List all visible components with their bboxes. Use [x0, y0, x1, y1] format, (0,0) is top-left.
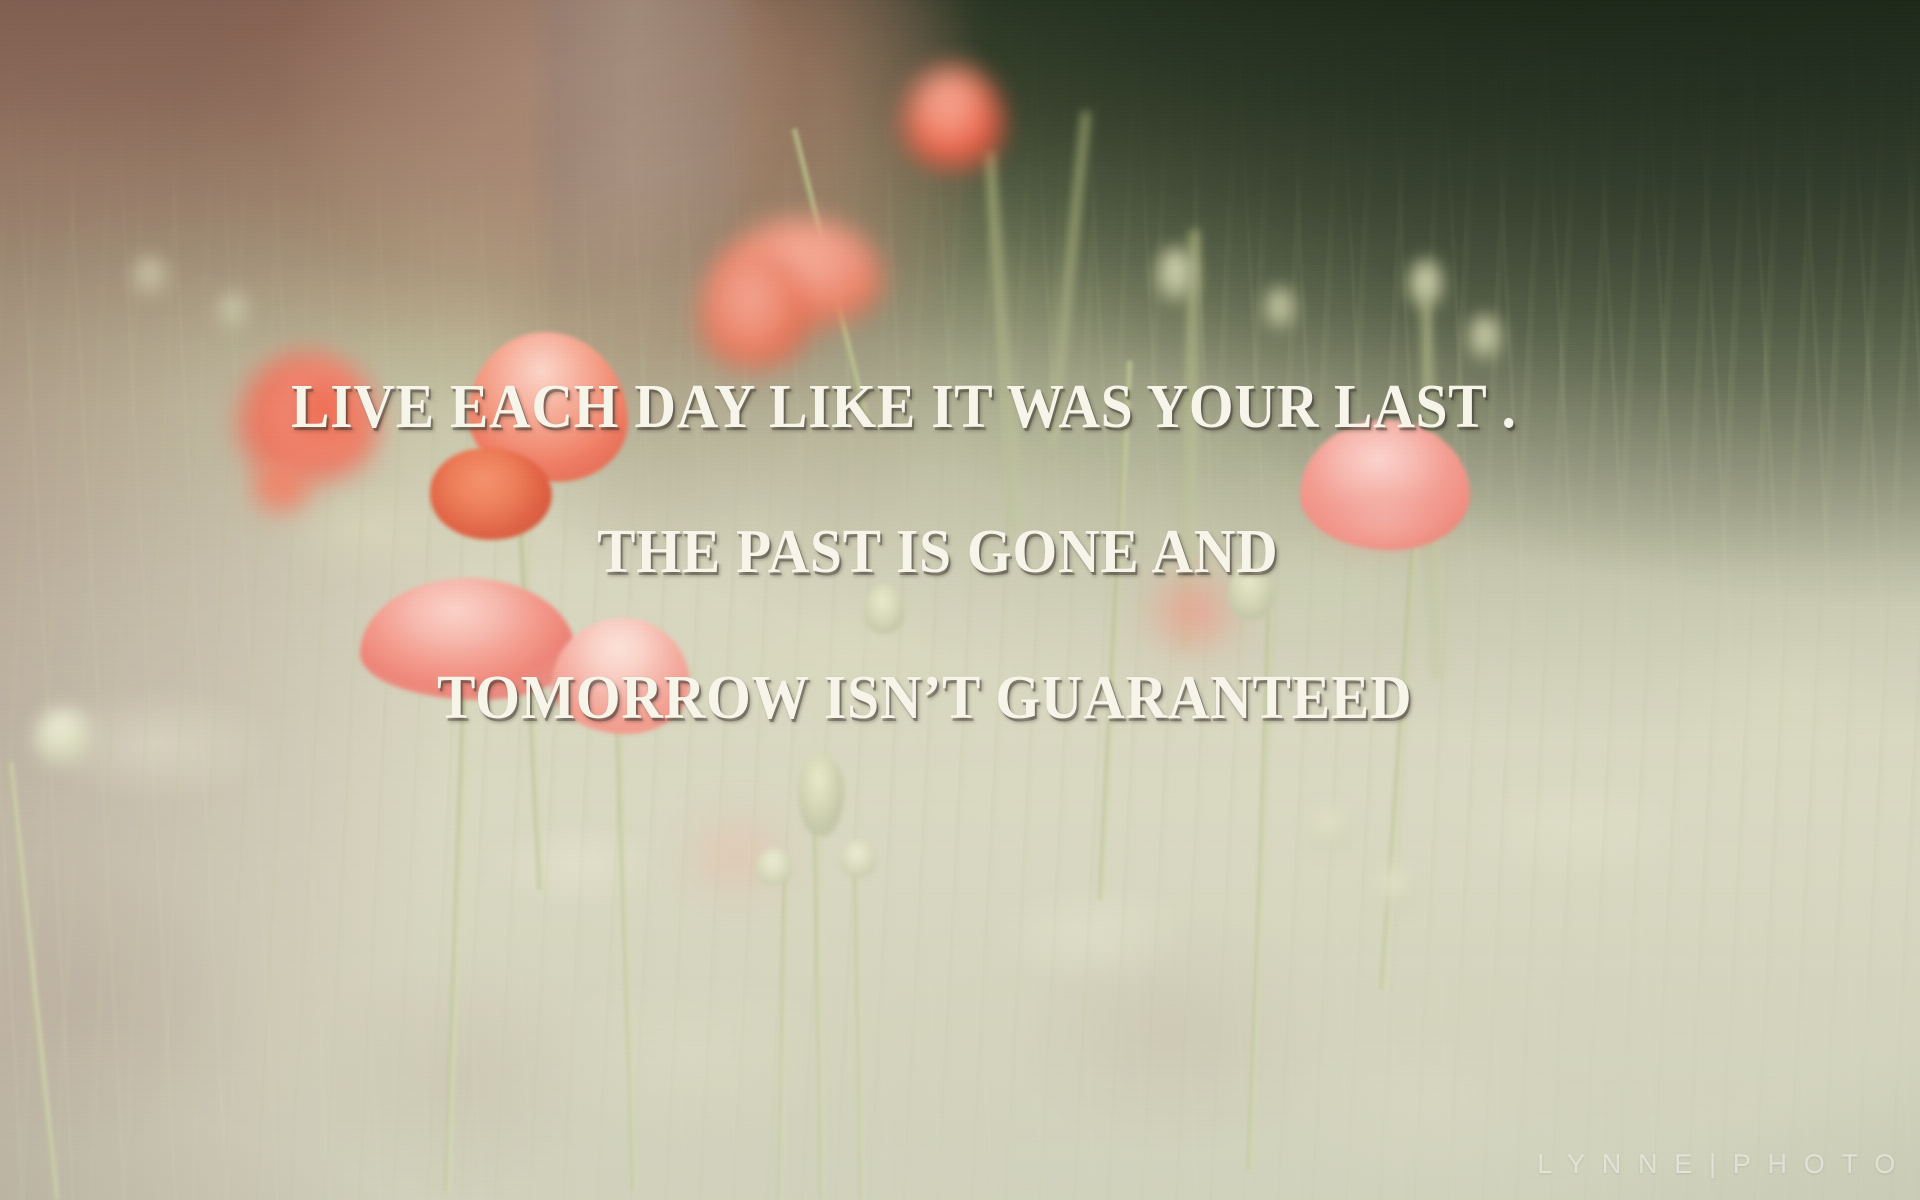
quote-photo-canvas: LIVE EACH DAY LIKE IT WAS YOUR LAST . TH… [0, 0, 1920, 1200]
quote-line-3: TOMORROW ISN’T GUARANTEED [437, 663, 1412, 734]
quote-line-2: THE PAST IS GONE AND [597, 517, 1278, 588]
quote-overlay: LIVE EACH DAY LIKE IT WAS YOUR LAST . TH… [0, 0, 1920, 1200]
photographer-watermark: LYNNE|PHOTO [1537, 1149, 1912, 1180]
quote-line-1: LIVE EACH DAY LIKE IT WAS YOUR LAST . [291, 372, 1517, 443]
